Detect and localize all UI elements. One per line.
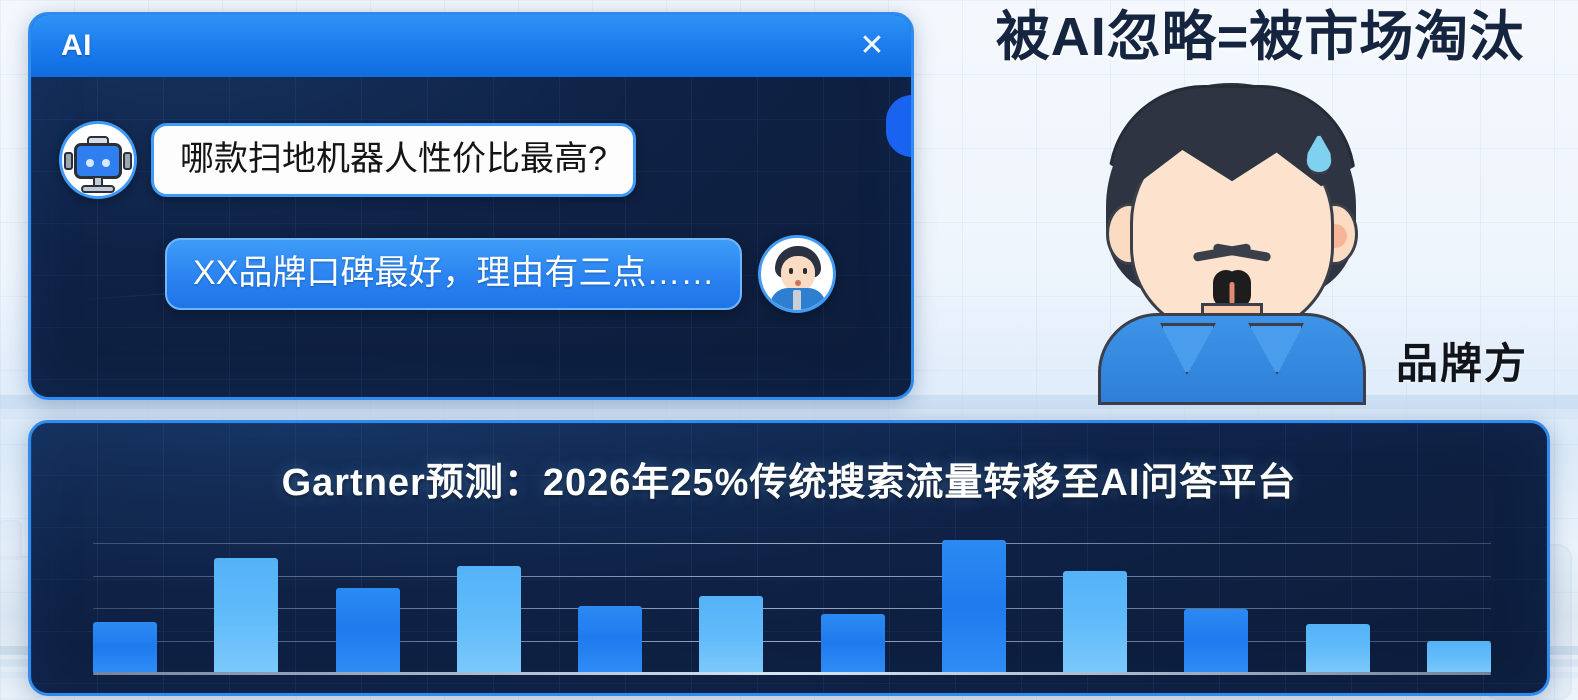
chat-message-bot: 哪款扫地机器人性价比最高? [59, 121, 636, 199]
chart-title: Gartner预测：2026年25%传统搜索流量转移至AI问答平台 [31, 451, 1547, 506]
chart-bars [93, 511, 1491, 672]
chart-bar [942, 540, 1006, 672]
brand-owner-character [1082, 75, 1382, 405]
chart-axis-baseline [93, 672, 1491, 675]
chart-bar [214, 558, 278, 672]
chart-bar [1306, 624, 1370, 672]
chart-bar [1427, 641, 1491, 672]
robot-avatar [59, 121, 137, 199]
close-icon[interactable]: ✕ [855, 29, 889, 63]
person-avatar [758, 235, 836, 313]
chart-panel: Gartner预测：2026年25%传统搜索流量转移至AI问答平台 [28, 420, 1550, 696]
chat-message-user: XX品牌口碑最好，理由有三点…… [165, 235, 836, 313]
background-band [0, 409, 1578, 419]
chart-bar [821, 614, 885, 672]
chat-title: AI [61, 29, 92, 63]
ai-chat-window: AI ✕ 哪款扫地机器人性价比最高? XX品牌口碑最好，理由有三点…… [28, 12, 914, 400]
chart-bar [457, 566, 521, 672]
chart-bar [699, 596, 763, 672]
page-headline: 被AI忽略=被市场淘汰 [960, 8, 1560, 66]
chat-titlebar: AI ✕ [31, 15, 911, 77]
chart-bar [336, 588, 400, 672]
character-nose [1230, 282, 1235, 304]
chat-bubble-answer[interactable]: XX品牌口碑最好，理由有三点…… [165, 238, 742, 309]
chart-bar [1184, 609, 1248, 672]
chat-bubble-question[interactable]: 哪款扫地机器人性价比最高? [151, 123, 636, 196]
chat-message-list: 哪款扫地机器人性价比最高? XX品牌口碑最好，理由有三点…… [31, 77, 911, 397]
chart-plot-area [93, 511, 1491, 675]
character-shirt [1098, 313, 1366, 405]
chart-bar [1063, 571, 1127, 672]
chart-bar [578, 606, 642, 672]
brand-owner-label: 品牌方 [1396, 330, 1528, 391]
chart-bar [93, 622, 157, 672]
